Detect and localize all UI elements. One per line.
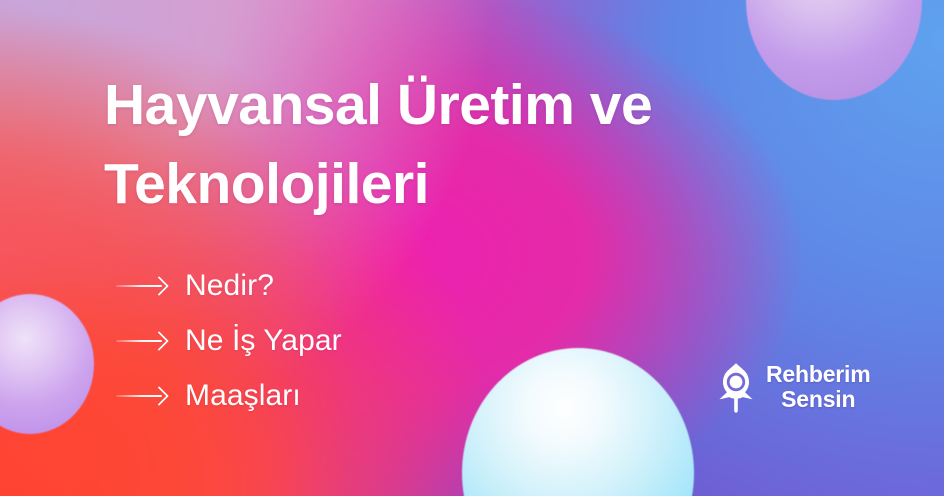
banner-content: Hayvansal Üretim ve Teknolojileri Nedir?… xyxy=(0,0,944,496)
brand-logo[interactable]: Rehberim Sensin xyxy=(714,361,870,413)
list-item[interactable]: Nedir? xyxy=(116,258,342,313)
list-item[interactable]: Maaşları xyxy=(116,368,342,423)
brand-name-line-2: Sensin xyxy=(766,387,870,412)
list-item[interactable]: Ne İş Yapar xyxy=(116,313,342,368)
arrow-right-icon xyxy=(116,331,168,351)
topic-list: Nedir? Ne İş Yapar Maaşları xyxy=(116,258,342,423)
page-title: Hayvansal Üretim ve Teknolojileri xyxy=(104,66,804,223)
arrow-right-icon xyxy=(116,386,168,406)
list-item-label: Maaşları xyxy=(185,379,301,413)
brand-logo-text: Rehberim Sensin xyxy=(766,362,870,412)
list-item-label: Nedir? xyxy=(185,269,274,303)
list-item-label: Ne İş Yapar xyxy=(185,324,342,358)
arrow-right-icon xyxy=(116,276,168,296)
promo-banner: Hayvansal Üretim ve Teknolojileri Nedir?… xyxy=(0,0,944,496)
location-pin-compass-icon xyxy=(714,361,758,413)
brand-name-line-1: Rehberim xyxy=(766,362,870,387)
